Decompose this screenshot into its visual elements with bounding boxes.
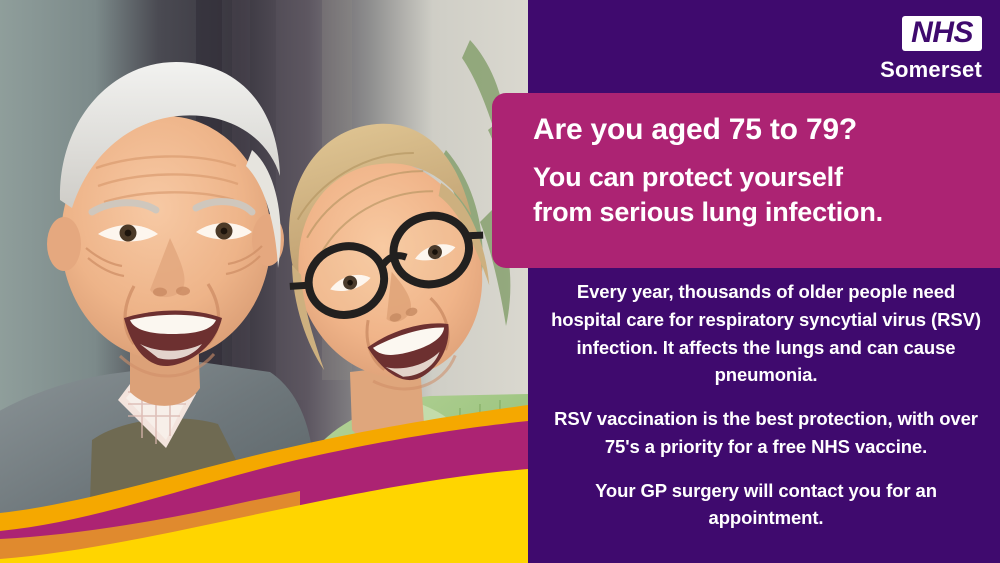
nhs-logo-box: NHS [902, 16, 982, 51]
body-paragraph-1: Every year, thousands of older people ne… [546, 278, 986, 389]
nhs-region-label: Somerset [880, 57, 982, 83]
headline-panel: Are you aged 75 to 79? You can protect y… [492, 93, 1000, 268]
nhs-somerset-logo: NHS Somerset [880, 16, 982, 83]
headline-statement-line2: from serious lung infection. [533, 195, 974, 231]
couple-photo-illustration [0, 0, 528, 563]
nhs-wordmark: NHS [911, 18, 973, 48]
body-paragraph-3: Your GP surgery will contact you for an … [546, 477, 986, 533]
headline-question: Are you aged 75 to 79? [533, 114, 974, 146]
body-paragraph-2: RSV vaccination is the best protection, … [546, 405, 986, 461]
nhs-rsv-poster: NHS Somerset Are you aged 75 to 79? You … [0, 0, 1000, 563]
couple-photo [0, 0, 528, 563]
body-copy: Every year, thousands of older people ne… [528, 278, 1000, 532]
headline-statement-line1: You can protect yourself [533, 160, 974, 196]
